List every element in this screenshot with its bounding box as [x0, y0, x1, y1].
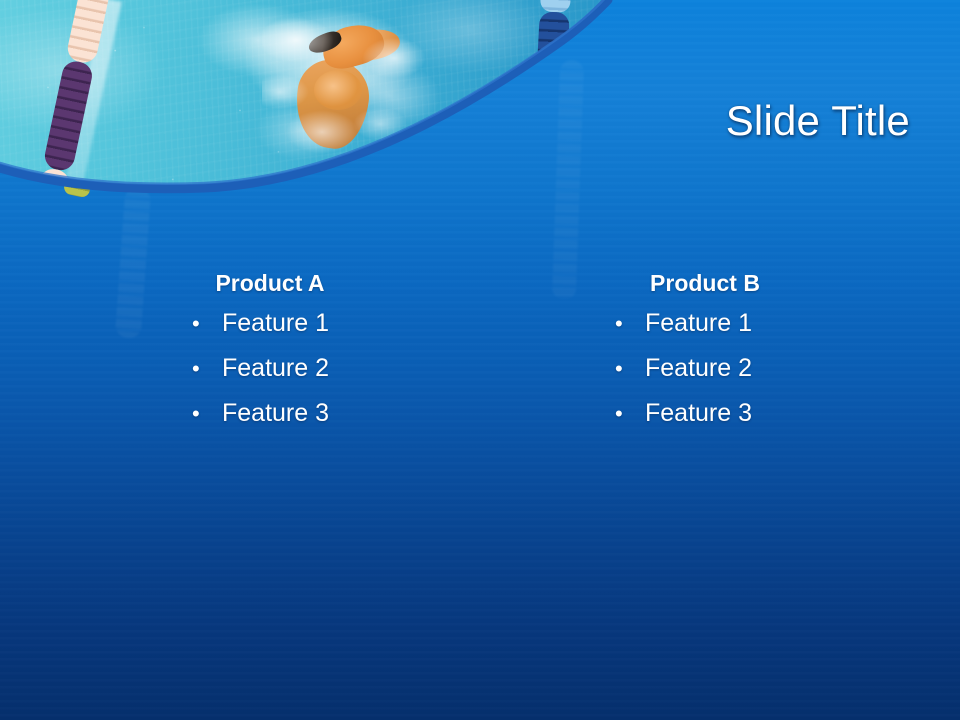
column-heading-product-b: Product B: [545, 270, 865, 297]
list-item[interactable]: • Feature 2: [545, 356, 865, 381]
content-column-product-b: Product B • Feature 1 • Feature 2 • Feat…: [545, 270, 865, 446]
list-item[interactable]: • Feature 2: [110, 356, 430, 381]
feature-label: Feature 3: [222, 401, 329, 426]
feature-label: Feature 2: [645, 356, 752, 381]
list-item[interactable]: • Feature 1: [110, 311, 430, 336]
presentation-slide: Slide Title Product A • Feature 1 • Feat…: [0, 0, 960, 720]
bullet-icon: •: [615, 313, 645, 335]
feature-label: Feature 1: [222, 311, 329, 336]
feature-label: Feature 3: [645, 401, 752, 426]
slide-title: Slide Title: [430, 99, 910, 143]
bullet-icon: •: [615, 358, 645, 380]
feature-list-product-a: • Feature 1 • Feature 2 • Feature 3: [110, 311, 430, 426]
bullet-icon: •: [192, 358, 222, 380]
bullet-icon: •: [192, 403, 222, 425]
bullet-icon: •: [192, 313, 222, 335]
feature-label: Feature 1: [645, 311, 752, 336]
content-column-product-a: Product A • Feature 1 • Feature 2 • Feat…: [110, 270, 430, 446]
list-item[interactable]: • Feature 3: [110, 401, 430, 426]
list-item[interactable]: • Feature 3: [545, 401, 865, 426]
column-heading-product-a: Product A: [110, 270, 430, 297]
bullet-icon: •: [615, 403, 645, 425]
feature-list-product-b: • Feature 1 • Feature 2 • Feature 3: [545, 311, 865, 426]
feature-label: Feature 2: [222, 356, 329, 381]
list-item[interactable]: • Feature 1: [545, 311, 865, 336]
